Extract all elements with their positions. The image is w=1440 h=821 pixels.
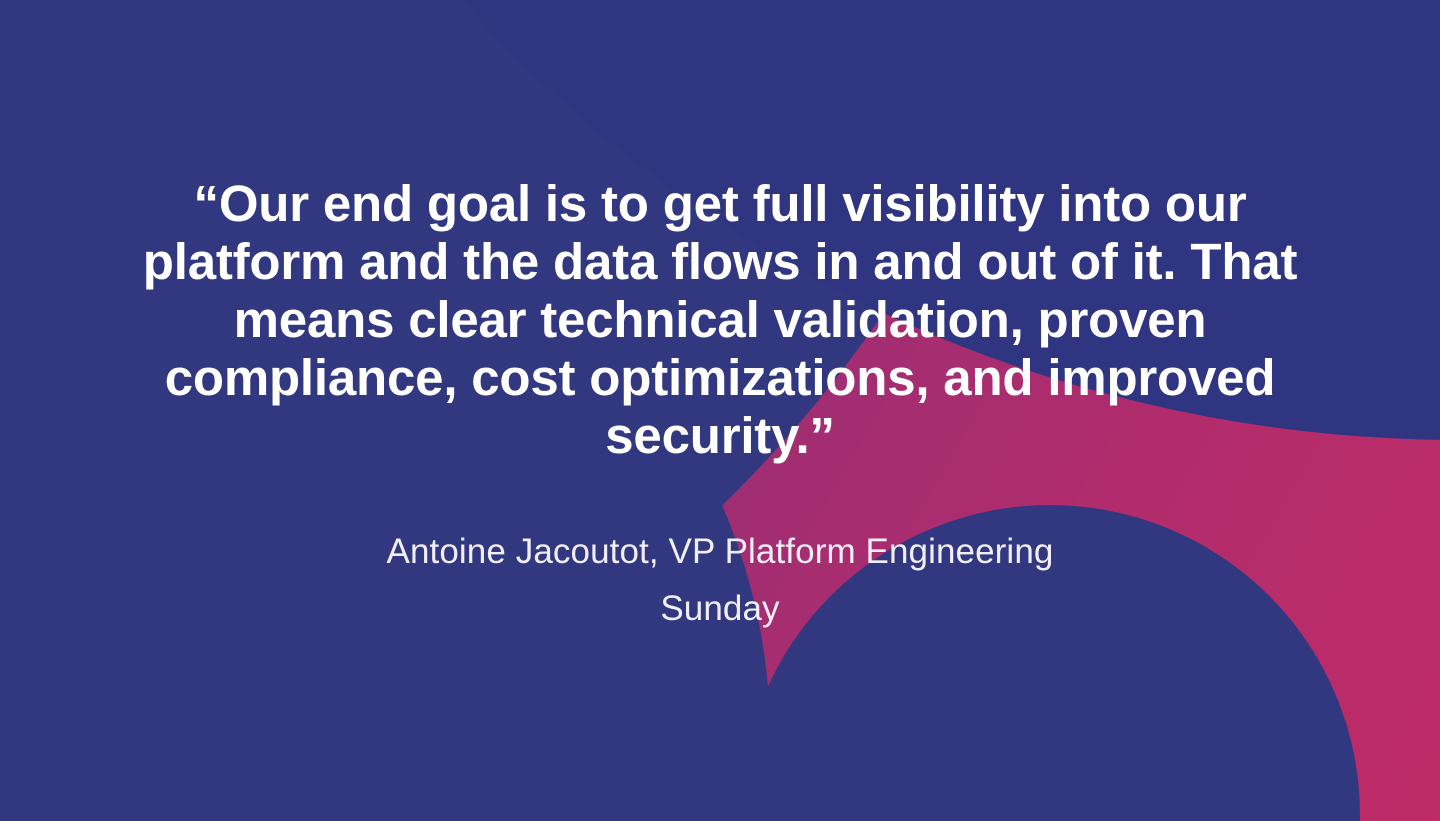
attribution-company: Sunday — [140, 580, 1300, 637]
quote-text: “Our end goal is to get full visibility … — [140, 175, 1300, 465]
slide-content: “Our end goal is to get full visibility … — [0, 0, 1440, 821]
quote-slide: “Our end goal is to get full visibility … — [0, 0, 1440, 821]
attribution-person: Antoine Jacoutot, VP Platform Engineerin… — [140, 523, 1300, 580]
quote-attribution: Antoine Jacoutot, VP Platform Engineerin… — [140, 523, 1300, 637]
